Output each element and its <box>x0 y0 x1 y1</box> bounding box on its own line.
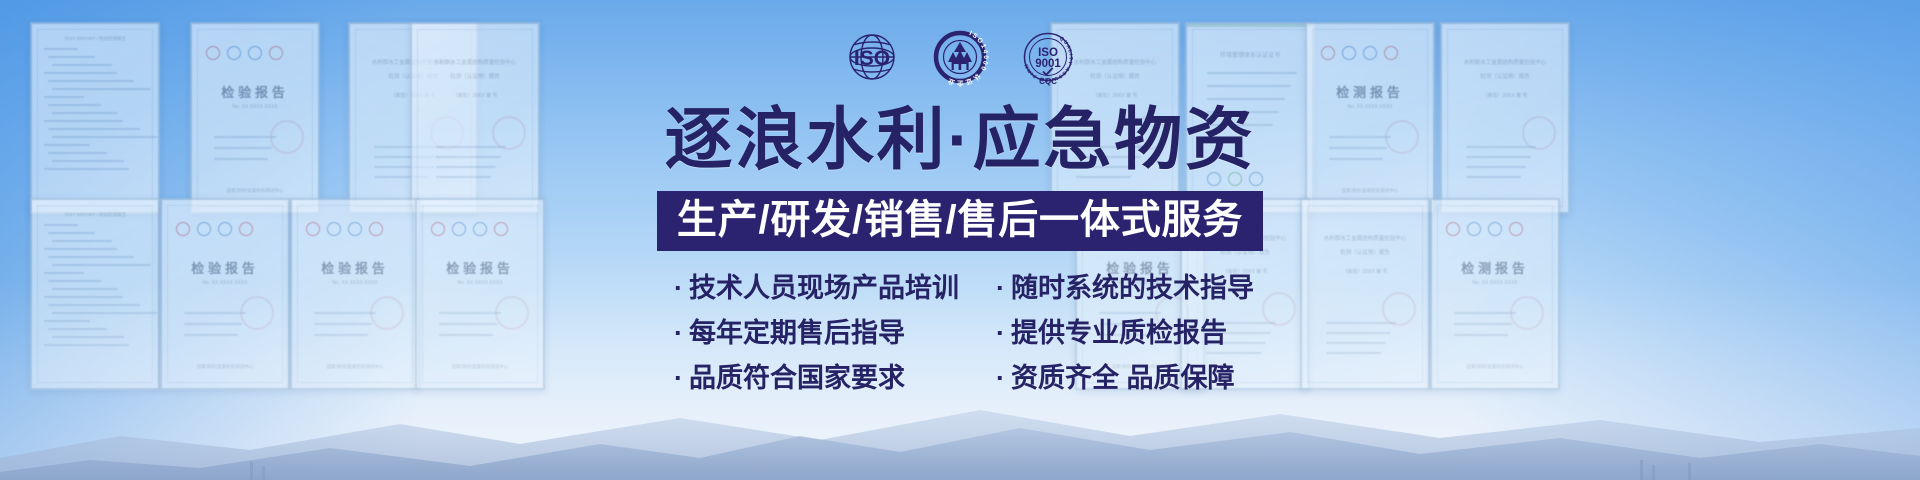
banner-content: ISO ISO14000 认证企业 <box>0 0 1920 480</box>
iso-globe-badge: ISO <box>841 26 903 88</box>
service-tagline: 生产/研发/销售/售后一体式服务 <box>677 199 1243 241</box>
bullet-dot-icon: · <box>674 320 683 347</box>
feature-item: ·随时系统的技术指导 <box>996 275 1246 302</box>
bullet-dot-icon: · <box>996 365 1005 392</box>
svg-text:ISO: ISO <box>854 47 890 70</box>
bullet-dot-icon: · <box>674 275 683 302</box>
iso-9001-cqc-badge: QUALITY ASSURED FIRM ISO 9001 CQC <box>1017 26 1079 88</box>
certification-badges: ISO ISO14000 认证企业 <box>841 26 1079 88</box>
feature-item: ·技术人员现场产品培训 <box>674 275 974 302</box>
service-tagline-band: 生产/研发/销售/售后一体式服务 <box>657 191 1263 251</box>
promo-banner: TEST REPORT / 检验检测报告检验报告No. XX XXXX XXXX… <box>0 0 1920 480</box>
svg-text:9001: 9001 <box>1035 58 1061 70</box>
feature-list: ·技术人员现场产品培训·随时系统的技术指导·每年定期售后指导·提供专业质检报告·… <box>674 275 1246 392</box>
feature-item: ·资质齐全 品质保障 <box>996 365 1246 392</box>
svg-text:CQC: CQC <box>1039 77 1057 86</box>
feature-item: ·每年定期售后指导 <box>674 320 974 347</box>
feature-label: 资质齐全 品质保障 <box>1011 365 1235 392</box>
feature-item: ·品质符合国家要求 <box>674 365 974 392</box>
bullet-dot-icon: · <box>674 365 683 392</box>
bullet-dot-icon: · <box>996 320 1005 347</box>
feature-item: ·提供专业质检报告 <box>996 320 1246 347</box>
page-title: 逐浪水利·应急物资 <box>664 106 1255 174</box>
bullet-dot-icon: · <box>996 275 1005 302</box>
feature-label: 提供专业质检报告 <box>1011 320 1227 347</box>
feature-label: 每年定期售后指导 <box>689 320 905 347</box>
feature-label: 技术人员现场产品培训 <box>689 275 959 302</box>
feature-label: 随时系统的技术指导 <box>1011 275 1254 302</box>
iso-14000-badge: ISO14000 认证企业 <box>929 26 991 88</box>
feature-label: 品质符合国家要求 <box>689 365 905 392</box>
